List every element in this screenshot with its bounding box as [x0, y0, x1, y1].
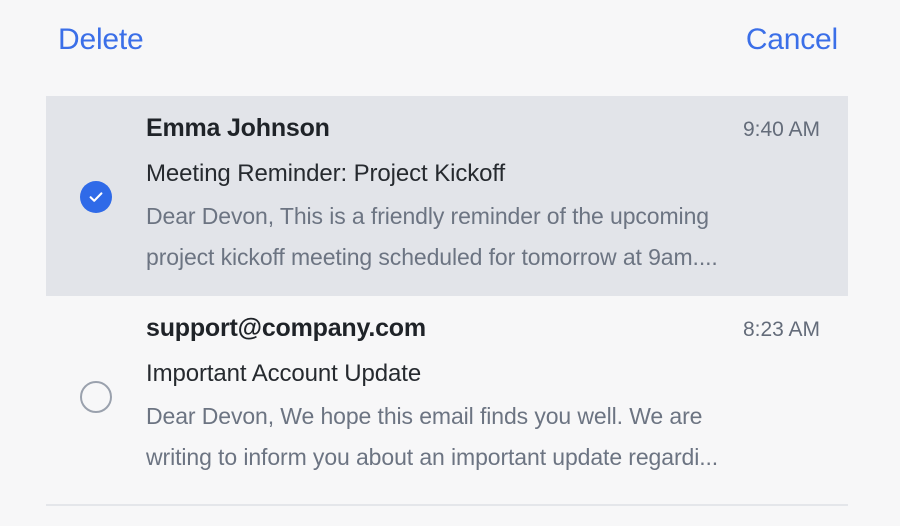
message-body: Emma Johnson 9:40 AM Meeting Reminder: P… [146, 112, 848, 278]
message-timestamp: 8:23 AM [743, 314, 820, 346]
message-preview: Dear Devon, We hope this email finds you… [146, 396, 820, 478]
check-filled-circle-icon[interactable] [80, 181, 112, 213]
table-row[interactable]: support@company.com 8:23 AM Important Ac… [46, 296, 848, 496]
message-preview-line: Dear Devon, We hope this email finds you… [146, 396, 820, 437]
message-header: Emma Johnson 9:40 AM [146, 112, 820, 146]
message-preview-line: writing to inform you about an important… [146, 437, 820, 478]
action-bar: Delete Cancel [0, 0, 900, 80]
message-preview-line: Dear Devon, This is a friendly reminder … [146, 196, 820, 237]
message-timestamp: 9:40 AM [743, 114, 820, 146]
message-list: Emma Johnson 9:40 AM Meeting Reminder: P… [46, 96, 848, 496]
message-preview-line: project kickoff meeting scheduled for to… [146, 237, 820, 278]
cancel-button[interactable]: Cancel [746, 25, 838, 55]
message-subject: Important Account Update [146, 357, 820, 391]
sender-name: support@company.com [146, 312, 426, 344]
select-column [46, 312, 146, 478]
message-body: support@company.com 8:23 AM Important Ac… [146, 312, 848, 478]
email-selection-screen: Delete Cancel Emma Johnson 9:40 AM Meeti… [0, 0, 900, 526]
message-header: support@company.com 8:23 AM [146, 312, 820, 346]
message-preview: Dear Devon, This is a friendly reminder … [146, 196, 820, 278]
message-subject: Meeting Reminder: Project Kickoff [146, 157, 820, 191]
select-column [46, 112, 146, 278]
table-row[interactable]: Emma Johnson 9:40 AM Meeting Reminder: P… [46, 96, 848, 296]
empty-circle-icon[interactable] [80, 381, 112, 413]
list-divider [46, 504, 848, 506]
sender-name: Emma Johnson [146, 112, 330, 144]
delete-button[interactable]: Delete [58, 25, 144, 55]
